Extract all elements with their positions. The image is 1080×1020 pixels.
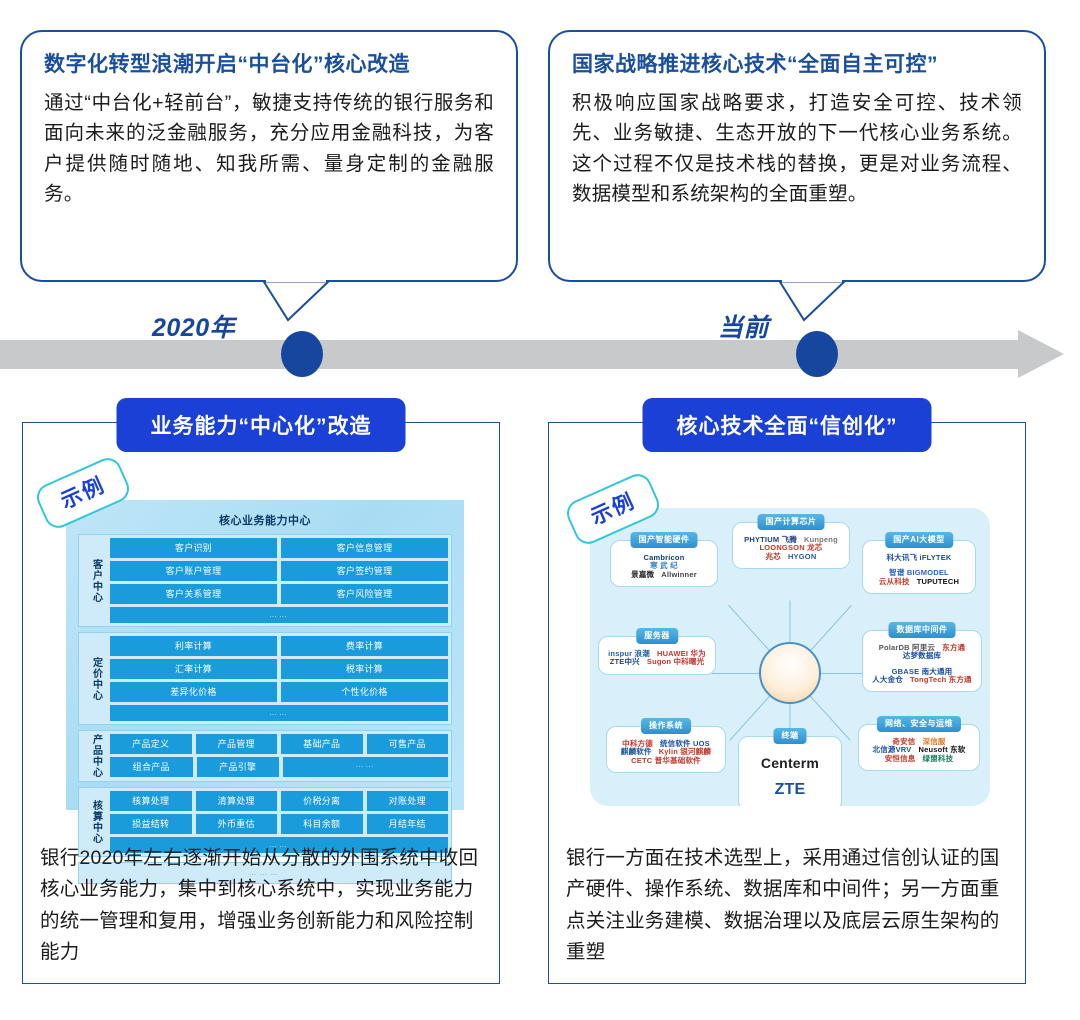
bubble-left: 数字化转型浪潮开启“中台化”核心改造 通过“中台化+轻前台”，敏捷支持传统的银行…	[20, 30, 518, 282]
bubble-left-body: 通过“中台化+轻前台”，敏捷支持传统的银行服务和面向未来的泛金融服务，充分应用金…	[44, 88, 494, 209]
eco-node-title: 国产智能硬件	[631, 532, 698, 548]
center-block-pricing: 定价中心 利率计算 费率计算 汇率计算 税率计算 差异化价格 个性化价格	[78, 632, 452, 725]
logo: 绿盟科技	[923, 755, 954, 763]
eco-node-title: 国产计算芯片	[758, 514, 825, 530]
center-block-customer: 客户中心 客户识别 客户信息管理 客户账户管理 客户签约管理 客户关系管理 客户…	[78, 534, 452, 627]
capability-item[interactable]: 客户风险管理	[281, 584, 448, 604]
bubble-right: 国家战略推进核心技术“全面自主可控” 积极响应国家战略要求，打造安全可控、技术领…	[548, 30, 1046, 282]
logo: 达梦数据库	[903, 652, 942, 660]
panel-right: 核心技术全面“信创化” 示例 国产智能硬件 Cambricon 寒 武 纪	[548, 398, 1026, 984]
capability-item[interactable]: 科目余额	[281, 814, 363, 834]
capability-item[interactable]: 个性化价格	[281, 682, 448, 702]
eco-node-terminal[interactable]: 终端 Centerm ZTE	[738, 736, 842, 806]
logo: Centerm	[761, 756, 819, 771]
timeline-label-current: 当前	[718, 308, 769, 344]
center-name-customer: 客户中心	[82, 538, 110, 623]
capability-item[interactable]: 外币重估	[196, 814, 278, 834]
eco-node-title: 终端	[774, 728, 807, 744]
logo: TUPUTECH	[917, 578, 959, 586]
timeline-dot-current[interactable]	[796, 331, 838, 377]
capability-item[interactable]: 客户账户管理	[110, 561, 277, 581]
bubble-right-tail	[778, 276, 848, 322]
capability-item[interactable]: 费率计算	[281, 636, 448, 656]
logo: HYGON	[788, 553, 817, 561]
capability-item[interactable]: 组合产品	[110, 757, 193, 777]
timeline-arrow-head	[1018, 330, 1064, 378]
timeline-bar	[0, 340, 1028, 369]
logo: ZTE中兴	[610, 658, 640, 666]
core-capability-diagram: 核心业务能力中心 客户中心 客户识别 客户信息管理 客户账户管理 客户签约管理 …	[66, 500, 464, 810]
eco-node-chips[interactable]: 国产计算芯片 PHYTIUM 飞腾 Kunpeng LOONGSON 龙芯 兆芯…	[732, 522, 850, 569]
capability-item[interactable]: 税率计算	[281, 659, 448, 679]
logo: 东方通	[942, 644, 965, 652]
timeline-label-2020: 2020年	[152, 308, 235, 344]
panel-left-header: 业务能力“中心化”改造	[117, 398, 406, 452]
logo: CETC 普华基础软件	[631, 757, 701, 765]
capability-item[interactable]: 可售产品	[367, 734, 449, 754]
capability-item[interactable]: 产品定义	[110, 734, 192, 754]
panel-right-caption: 银行一方面在技术选型上，采用通过信创认证的国产硬件、操作系统、数据库和中间件；另…	[566, 843, 1008, 968]
capability-item[interactable]: 客户签约管理	[281, 561, 448, 581]
eco-node-title: 数据库中间件	[889, 622, 956, 638]
bubble-left-tail	[262, 276, 332, 322]
capability-more: ……	[110, 607, 448, 623]
timeline-dot-2020[interactable]	[281, 331, 323, 377]
infographic-root: 数字化转型浪潮开启“中台化”核心改造 通过“中台化+轻前台”，敏捷支持传统的银行…	[0, 0, 1080, 1020]
logo: 景嘉微	[631, 571, 654, 579]
timeline: 2020年 当前	[0, 330, 1080, 380]
eco-node-network-security[interactable]: 网络、安全与运维 奇安信 深信服 北信源VRV Neusoft 东软 安恒信息 …	[858, 724, 980, 771]
core-capability-title: 核心业务能力中心	[78, 508, 452, 534]
logo: 人大金仓	[872, 676, 903, 684]
center-block-product: 产品中心 产品定义 产品管理 基础产品 可售产品 组合产品 产品引擎 ……	[78, 730, 452, 782]
panel-left-caption: 银行2020年左右逐渐开始从分散的外围系统中收回核心业务能力，集中到核心系统中，…	[40, 843, 482, 968]
eco-node-title: 国产AI大模型	[885, 532, 953, 548]
logo: ZTE	[775, 781, 806, 799]
eco-node-title: 网络、安全与运维	[877, 716, 961, 732]
center-name-pricing: 定价中心	[82, 636, 110, 721]
capability-item[interactable]: 差异化价格	[110, 682, 277, 702]
capability-item[interactable]: 月结年结	[367, 814, 449, 834]
eco-node-ai-models[interactable]: 国产AI大模型 科大讯飞 iFLYTEK 智谱 BIGMODEL 云从科技 TU…	[862, 540, 976, 594]
logo: 云从科技	[879, 578, 910, 586]
eco-node-servers[interactable]: 服务器 inspur 浪潮 HUAWEI 华为 ZTE中兴 Sugon 中科曙光	[598, 636, 716, 675]
capability-item[interactable]: 核算处理	[110, 791, 192, 811]
eco-node-hardware[interactable]: 国产智能硬件 Cambricon 寒 武 纪 景嘉微 Allwinner	[610, 540, 718, 587]
capability-item[interactable]: 基础产品	[281, 734, 363, 754]
capability-item[interactable]: 客户信息管理	[281, 538, 448, 558]
capability-item[interactable]: 损益结转	[110, 814, 192, 834]
capability-item[interactable]: 价税分离	[281, 791, 363, 811]
logo: 安恒信息	[885, 755, 916, 763]
eco-node-title: 服务器	[636, 628, 678, 644]
capability-more: ……	[283, 757, 448, 777]
eco-node-operating-system[interactable]: 操作系统 中科方德 统信软件 UOS 麒麟软件 Kylin 银河麒麟 CETC …	[606, 726, 726, 773]
xinchuang-ecosystem-diagram: 国产智能硬件 Cambricon 寒 武 纪 景嘉微 Allwinner 国产计…	[590, 508, 990, 806]
logo: 兆芯	[766, 553, 781, 561]
capability-item[interactable]: 汇率计算	[110, 659, 277, 679]
bubble-right-body: 积极响应国家战略要求，打造安全可控、技术领先、业务敏捷、生态开放的下一代核心业务…	[572, 88, 1022, 209]
logo: TongTech 东方通	[910, 676, 972, 684]
capability-item[interactable]: 客户关系管理	[110, 584, 277, 604]
logo: 科大讯飞 iFLYTEK	[886, 554, 951, 562]
capability-item[interactable]: 产品引擎	[197, 757, 280, 777]
capability-item[interactable]: 清算处理	[196, 791, 278, 811]
capability-item[interactable]: 产品管理	[196, 734, 278, 754]
center-name-product: 产品中心	[82, 734, 110, 778]
bubble-right-title: 国家战略推进核心技术“全面自主可控”	[572, 52, 1022, 78]
logo: Sugon 中科曙光	[647, 658, 704, 666]
logo: Allwinner	[661, 571, 697, 579]
eco-hub-core	[759, 642, 821, 704]
panel-right-header: 核心技术全面“信创化”	[643, 398, 932, 452]
bubble-left-title: 数字化转型浪潮开启“中台化”核心改造	[44, 52, 494, 78]
capability-more: ……	[110, 705, 448, 721]
capability-item[interactable]: 对账处理	[367, 791, 449, 811]
capability-item[interactable]: 利率计算	[110, 636, 277, 656]
panel-left: 业务能力“中心化”改造 示例 核心业务能力中心 客户中心 客户识别 客户信息管理…	[22, 398, 500, 984]
eco-node-database-middleware[interactable]: 数据库中间件 PolarDB 阿里云 东方通 达梦数据库 GBASE 南大通用 …	[862, 630, 982, 692]
capability-item[interactable]: 客户识别	[110, 538, 277, 558]
eco-node-title: 操作系统	[641, 718, 691, 734]
